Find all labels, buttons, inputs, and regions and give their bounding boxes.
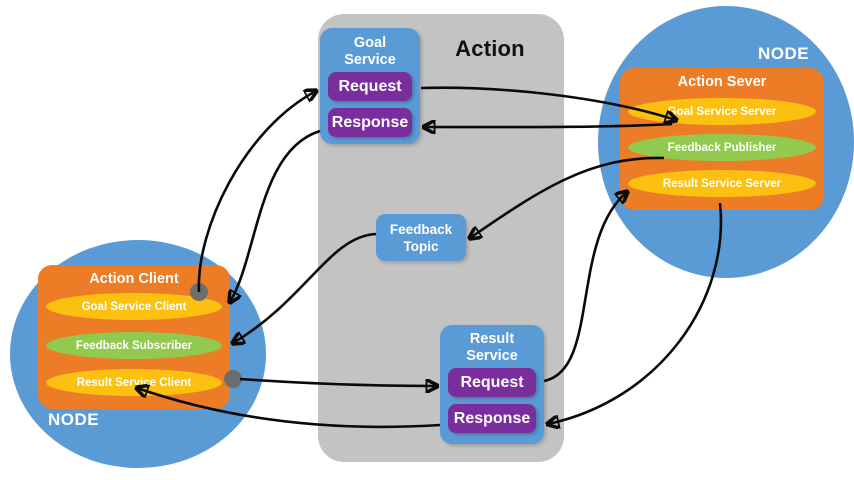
arrow-goal-client-to-goal-request (199, 91, 316, 292)
result-service-request-pill[interactable]: Request (448, 368, 536, 397)
goal-service-box: Goal Service Request Response (320, 28, 420, 144)
result-service-response-pill[interactable]: Response (448, 404, 536, 433)
goal-client-connector-dot-icon (190, 283, 208, 301)
feedback-topic-box[interactable]: Feedback Topic (376, 214, 466, 261)
goal-service-response-pill[interactable]: Response (328, 108, 412, 137)
feedback-topic-line2: Topic (404, 238, 439, 255)
feedback-publisher-pill[interactable]: Feedback Publisher (628, 134, 816, 161)
result-service-server-pill[interactable]: Result Service Server (628, 170, 816, 197)
result-client-connector-dot-icon (224, 370, 242, 388)
goal-service-title: Goal Service (320, 35, 420, 69)
result-service-title-line1: Result (440, 331, 544, 348)
client-node-label: NODE (48, 410, 99, 430)
action-architecture-diagram: Action Action Client Goal Service Client… (0, 0, 854, 480)
action-server-title: Action Sever (620, 74, 824, 90)
action-server-panel: Action Sever Goal Service Server Feedbac… (620, 68, 824, 210)
action-title: Action (430, 36, 550, 62)
arrow-goal-response-to-goal-client (230, 131, 320, 302)
feedback-topic-line1: Feedback (390, 221, 452, 238)
goal-service-title-line2: Service (320, 52, 420, 69)
result-service-title: Result Service (440, 331, 544, 365)
feedback-subscriber-pill[interactable]: Feedback Subscriber (46, 332, 222, 359)
goal-service-title-line1: Goal (320, 35, 420, 52)
server-node-label: NODE (758, 44, 809, 64)
result-service-box: Result Service Request Response (440, 325, 544, 444)
goal-service-request-pill[interactable]: Request (328, 72, 412, 101)
result-service-client-pill[interactable]: Result Service Client (46, 369, 222, 396)
goal-service-server-pill[interactable]: Goal Service Server (628, 98, 816, 125)
result-service-title-line2: Service (440, 348, 544, 365)
